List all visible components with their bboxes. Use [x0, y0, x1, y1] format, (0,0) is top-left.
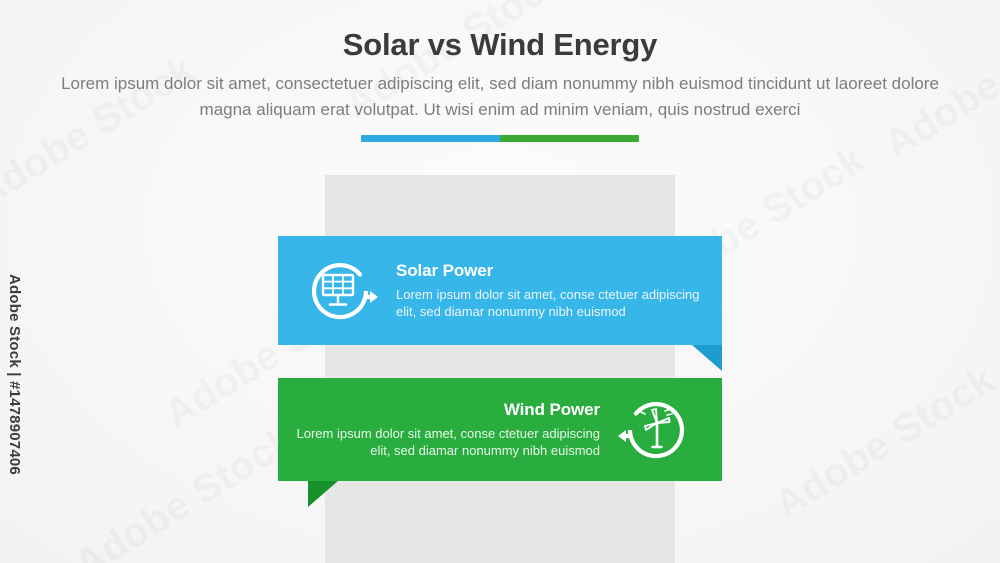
card-solar-power[interactable]: Solar Power Lorem ipsum dolor sit amet, … [278, 236, 722, 345]
watermark-text: Adobe Stock [67, 417, 303, 563]
page-title: Solar vs Wind Energy [0, 27, 1000, 63]
accent-divider [361, 135, 639, 142]
solar-panel-refresh-icon [294, 245, 386, 337]
card-tail-wind [308, 481, 338, 507]
card-wind-power[interactable]: Wind Power Lorem ipsum dolor sit amet, c… [278, 378, 722, 481]
card-wind-text: Wind Power Lorem ipsum dolor sit amet, c… [296, 400, 606, 459]
page-subtitle: Lorem ipsum dolor sit amet, consectetuer… [0, 71, 1000, 123]
card-solar-text: Solar Power Lorem ipsum dolor sit amet, … [386, 261, 704, 320]
background-panel [325, 175, 675, 563]
card-wind-title: Wind Power [296, 400, 600, 420]
header: Solar vs Wind Energy Lorem ipsum dolor s… [0, 0, 1000, 142]
card-solar-title: Solar Power [396, 261, 704, 281]
divider-segment-blue [361, 135, 500, 142]
card-wind-description: Lorem ipsum dolor sit amet, conse ctetue… [296, 425, 600, 459]
card-tail-solar [692, 345, 722, 371]
divider-segment-green [500, 135, 639, 142]
infographic-canvas: Adobe Stock Adobe Stock Adobe Stock Adob… [0, 0, 1000, 563]
wind-turbine-refresh-icon [606, 384, 706, 476]
watermark-text: Adobe Stock [767, 357, 1000, 528]
card-solar-description: Lorem ipsum dolor sit amet, conse ctetue… [396, 286, 704, 320]
